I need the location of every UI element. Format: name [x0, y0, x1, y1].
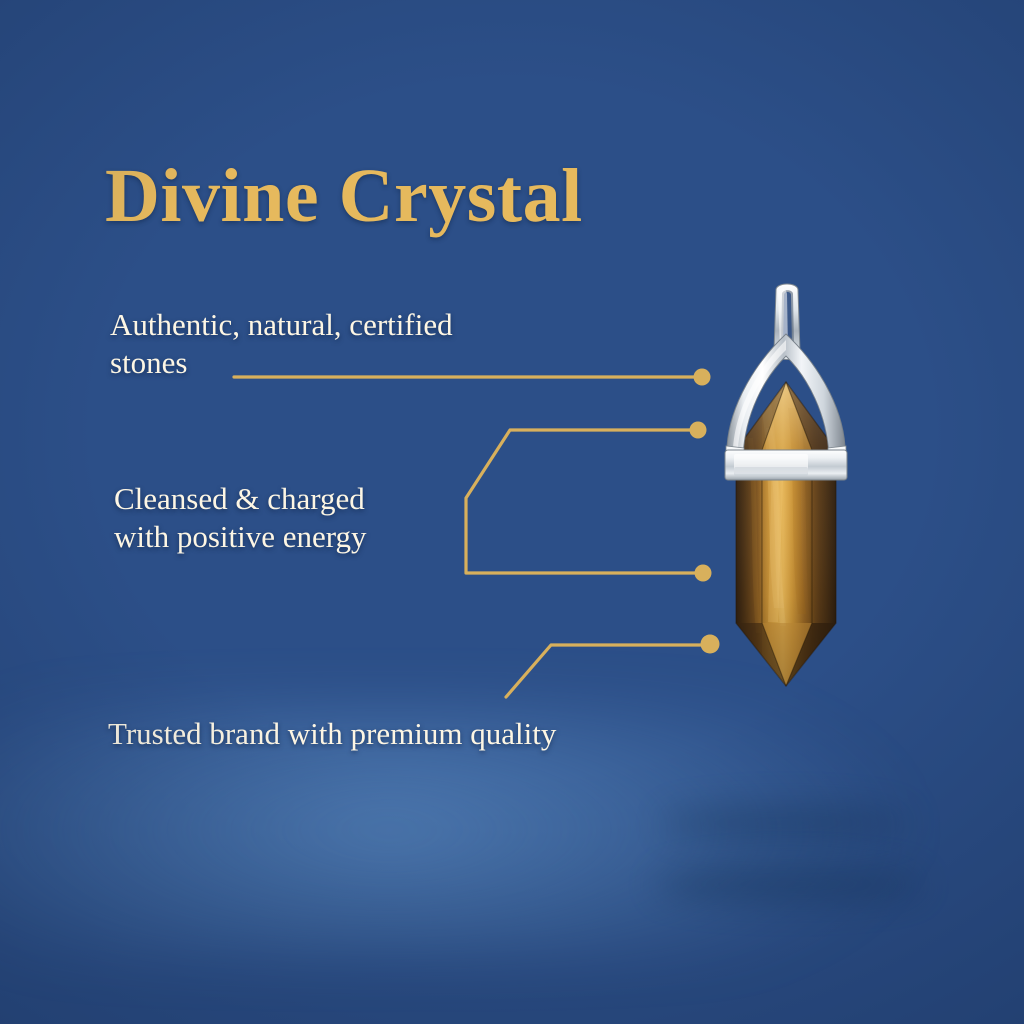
page-title: Divine Crystal [105, 158, 583, 234]
feature-label-authentic: Authentic, natural, certified stones [110, 306, 453, 382]
feature-label-trusted: Trusted brand with premium quality [108, 715, 556, 753]
product-image-crystal-pendant [714, 278, 894, 688]
tiger-eye-stone [734, 378, 838, 688]
connector-dot-cleansed-bottom [695, 565, 712, 582]
pendant-metal-band [725, 450, 847, 481]
pendant-shadow-upper [662, 806, 908, 840]
crystal-pendant-icon [714, 278, 894, 688]
connector-dot-cleansed-top [690, 422, 707, 439]
connector-line-trusted [506, 645, 708, 697]
pendant-shadow-lower [655, 866, 923, 902]
poster-canvas: Divine Crystal Authentic, natural, certi… [0, 0, 1024, 1024]
feature-label-cleansed: Cleansed & charged with positive energy [114, 480, 367, 556]
connector-line-cleansed [466, 430, 701, 573]
connector-dot-authentic [694, 369, 711, 386]
